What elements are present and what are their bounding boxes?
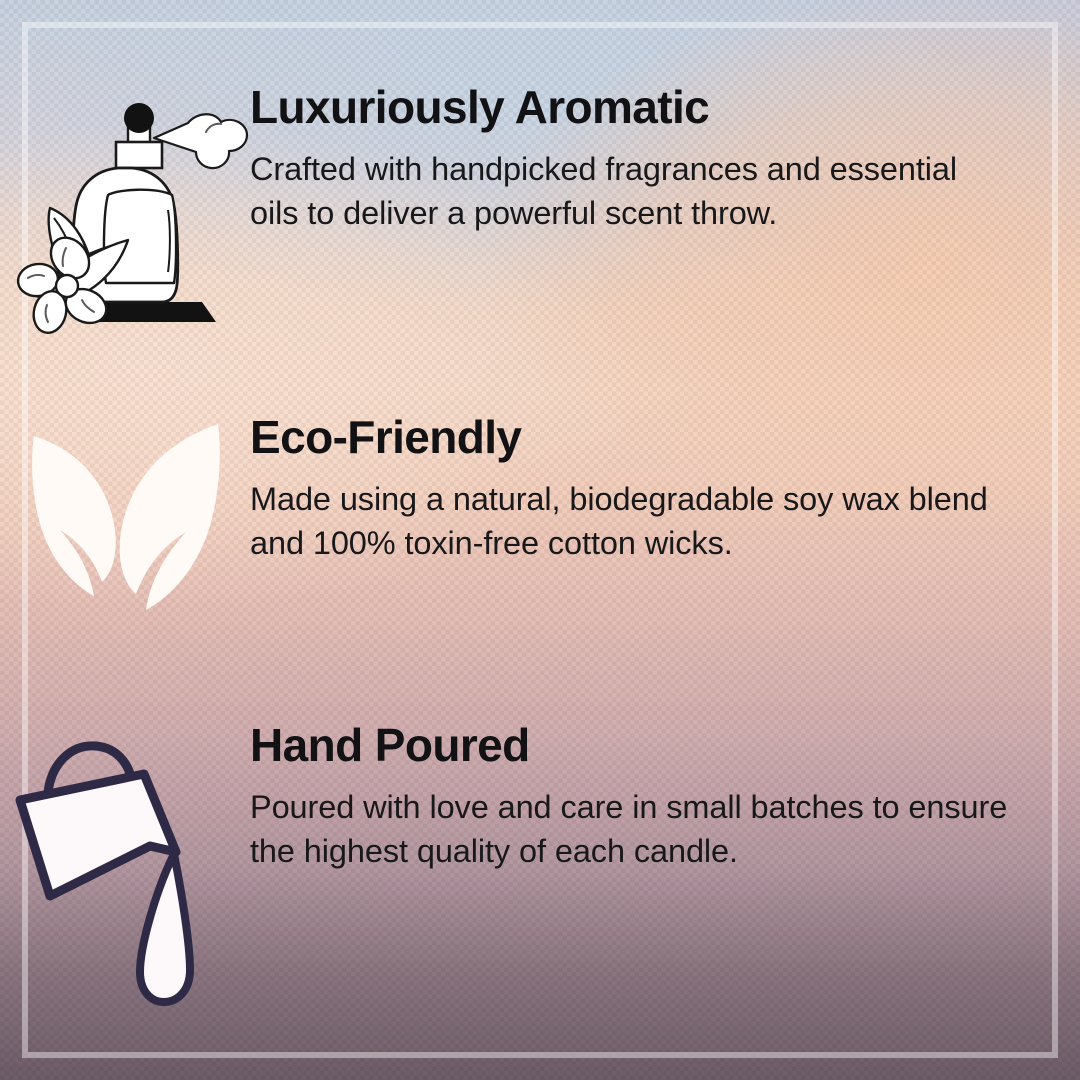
feature-title: Hand Poured: [250, 722, 1040, 768]
feature-item-luxuriously-aromatic: Luxuriously Aromatic Crafted with handpi…: [0, 82, 1080, 330]
feature-text-block: Eco-Friendly Made using a natural, biode…: [250, 404, 1080, 565]
pouring-pitcher-icon: [14, 730, 236, 1010]
feature-title: Luxuriously Aromatic: [250, 84, 1040, 130]
feature-item-eco-friendly: Eco-Friendly Made using a natural, biode…: [0, 404, 1080, 622]
feature-text-block: Luxuriously Aromatic Crafted with handpi…: [250, 82, 1080, 235]
feature-icon-slot: [0, 404, 250, 622]
feature-icon-slot: [0, 82, 250, 330]
leaves-icon: [18, 422, 232, 622]
feature-description: Poured with love and care in small batch…: [250, 786, 1010, 873]
feature-icon-slot: [0, 716, 250, 1010]
feature-text-block: Hand Poured Poured with love and care in…: [250, 716, 1080, 873]
feature-list: Luxuriously Aromatic Crafted with handpi…: [0, 0, 1080, 1080]
feature-title: Eco-Friendly: [250, 414, 1040, 460]
feature-description: Made using a natural, biodegradable soy …: [250, 478, 1010, 565]
feature-description: Crafted with handpicked fragrances and e…: [250, 148, 1010, 235]
feature-item-hand-poured: Hand Poured Poured with love and care in…: [0, 716, 1080, 1010]
perfume-bottle-icon: [10, 90, 240, 330]
promo-card: Luxuriously Aromatic Crafted with handpi…: [0, 0, 1080, 1080]
